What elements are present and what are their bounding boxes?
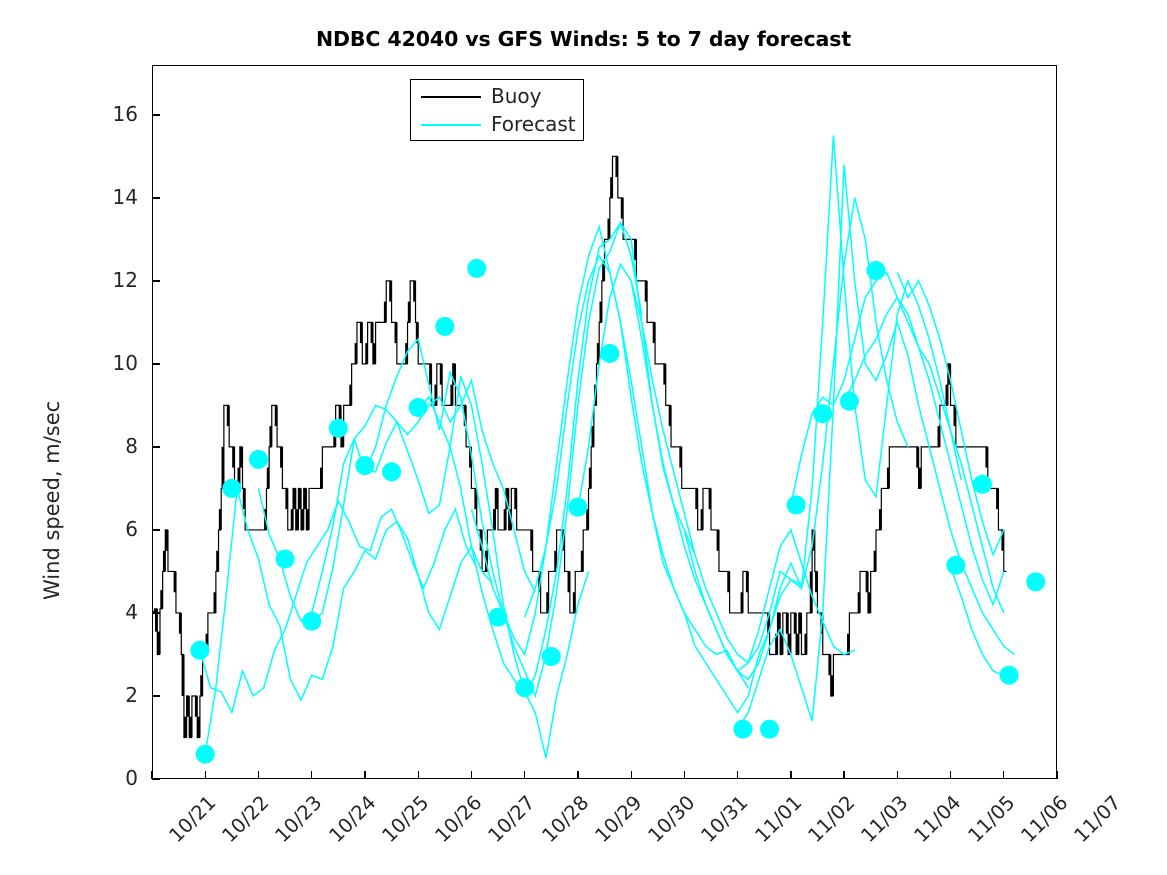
y-tick-label: 4 bbox=[68, 600, 138, 624]
legend-label-buoy: Buoy bbox=[491, 84, 541, 108]
chart-legend: Buoy Forecast bbox=[410, 79, 584, 141]
y-tick-label: 12 bbox=[68, 268, 138, 292]
y-tick-label: 16 bbox=[68, 102, 138, 126]
x-tick-label: 10/30 bbox=[644, 791, 700, 847]
figure-canvas: NDBC 42040 vs GFS Winds: 5 to 7 day fore… bbox=[0, 0, 1167, 875]
legend-label-forecast: Forecast bbox=[491, 112, 576, 136]
y-tick-label: 14 bbox=[68, 185, 138, 209]
x-tick-label: 11/07 bbox=[1069, 791, 1125, 847]
legend-swatch-buoy bbox=[421, 96, 481, 98]
legend-entry-buoy: Buoy bbox=[411, 83, 585, 112]
x-tick-label: 10/27 bbox=[484, 791, 540, 847]
y-axis-title: Wind speed, m/sec bbox=[40, 401, 64, 600]
chart-title: NDBC 42040 vs GFS Winds: 5 to 7 day fore… bbox=[0, 27, 1167, 51]
x-tick-label: 10/28 bbox=[537, 791, 593, 847]
y-tick-label: 2 bbox=[68, 683, 138, 707]
y-tick-label: 10 bbox=[68, 351, 138, 375]
x-tick-label: 11/01 bbox=[750, 791, 806, 847]
x-tick-label: 10/22 bbox=[218, 791, 274, 847]
x-tick-label: 10/29 bbox=[590, 791, 646, 847]
x-tick-label: 11/06 bbox=[1016, 791, 1072, 847]
y-tick-label: 8 bbox=[68, 434, 138, 458]
x-tick-label: 10/25 bbox=[377, 791, 433, 847]
y-tick-label: 0 bbox=[68, 766, 138, 790]
x-tick-label: 10/23 bbox=[271, 791, 327, 847]
x-tick-label: 11/05 bbox=[963, 791, 1019, 847]
plot-area: Buoy Forecast bbox=[152, 65, 1057, 779]
x-tick-label: 10/24 bbox=[324, 791, 380, 847]
legend-swatch-forecast bbox=[421, 124, 481, 126]
x-tick-label: 10/26 bbox=[431, 791, 487, 847]
x-tick-label: 11/02 bbox=[803, 791, 859, 847]
y-tick-label: 6 bbox=[68, 517, 138, 541]
axes-frame bbox=[152, 65, 1057, 779]
x-tick-label: 10/21 bbox=[164, 791, 220, 847]
x-tick-label: 11/04 bbox=[910, 791, 966, 847]
legend-entry-forecast: Forecast bbox=[411, 111, 585, 140]
x-tick-label: 11/03 bbox=[857, 791, 913, 847]
x-tick-label: 10/31 bbox=[697, 791, 753, 847]
